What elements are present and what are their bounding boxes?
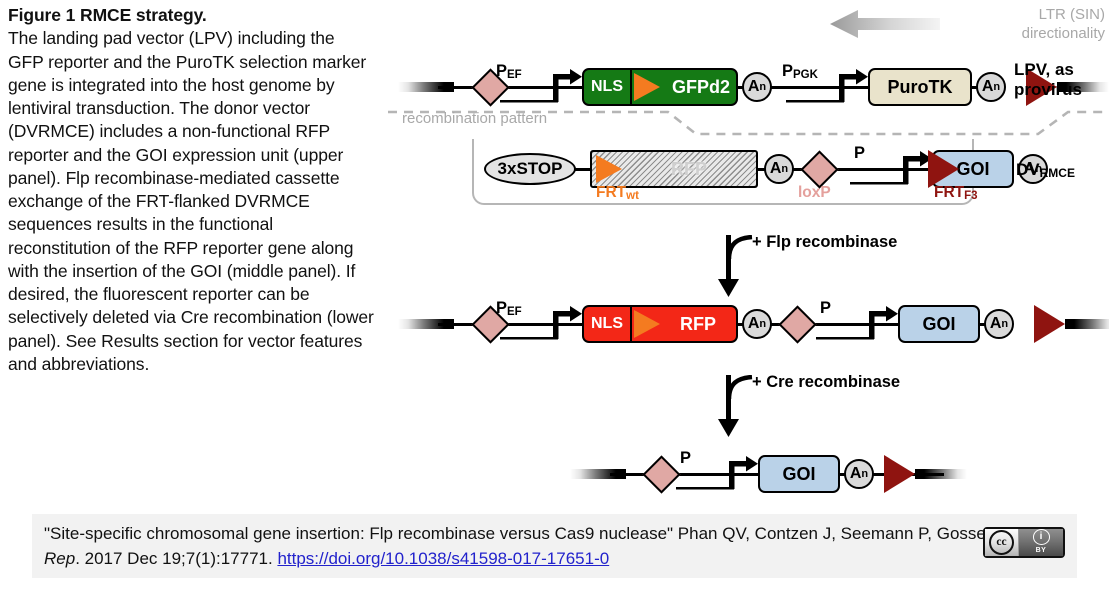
loxp-label: loxP (798, 184, 831, 202)
reaction-cre-label: + Cre recombinase (752, 373, 900, 392)
loxp-site-diamond-dvrmce (800, 150, 838, 188)
gfpd2-nls-segment: NLS (584, 70, 632, 104)
polya-signal-after-flp-1: An (742, 309, 772, 339)
recombination-pattern-label: recombination pattern (402, 110, 547, 127)
frt-f3-triangle-icon-after-cre (884, 455, 915, 493)
ltr-directionality-arrow-icon (830, 8, 940, 40)
cc-by-text: BY (1036, 546, 1047, 556)
rfp-nls-segment: NLS (584, 307, 632, 341)
stop-cassette-3xstop: 3xSTOP (484, 153, 576, 185)
ltr-directionality-note: LTR (SIN) directionality (965, 6, 1105, 44)
figure-page: Figure 1 RMCE strategy. The landing pad … (0, 0, 1109, 591)
genomic-dna-fade-left-3 (570, 469, 626, 479)
polya-signal-after-cre: An (844, 459, 874, 489)
citation-text-part2: . 2017 Dec 19;7(1):17771. (75, 549, 277, 568)
figure-caption-body: The landing pad vector (LPV) including t… (8, 27, 374, 376)
rfp-label-functional: RFP (660, 314, 736, 335)
genomic-dna-fade-left (398, 82, 454, 92)
promoter-pef-after-flp: PEF (496, 303, 582, 345)
reaction-flp: + Flp recombinase (718, 235, 968, 297)
frt-f3-triangle-icon-after-flp (1034, 305, 1065, 343)
construct-row-after-flp: PEF NLS RFP An P (392, 295, 1012, 353)
gene-box-rfp-nonfunctional: RFP (590, 150, 758, 188)
citation-footer: "Site-specific chromosomal gene insertio… (32, 514, 1077, 578)
genomic-dna-fade-right-2 (1065, 319, 1109, 329)
promoter-p-after-flp: P (812, 303, 898, 345)
construct-label-lpv: LPV, as provirus (1014, 60, 1082, 101)
loxp-site-diamond-after-flp-2 (778, 305, 816, 343)
gene-box-goi-after-cre: GOI (758, 455, 840, 493)
construct-label-dvrmce: DVRMCE (1016, 160, 1075, 180)
creative-commons-badge-icon: cc i BY (983, 527, 1065, 558)
cc-circle-icon: cc (989, 530, 1014, 555)
cc-by-person-icon: i (1033, 529, 1050, 545)
polya-signal-dvrmce-1: An (764, 154, 794, 184)
gene-box-rfp-functional: NLS RFP (582, 305, 738, 343)
promoter-p-after-cre: P (672, 453, 758, 495)
frt-wt-triangle-icon (634, 73, 660, 101)
cc-logo-section: cc (985, 529, 1019, 556)
reaction-cre: + Cre recombinase (718, 375, 968, 437)
frt-f3-triangle-icon-dvrmce (928, 150, 959, 188)
promoter-p-dvrmce: P (846, 148, 932, 190)
genomic-dna-fade-left-2 (398, 319, 454, 329)
polya-signal-2: An (976, 72, 1006, 102)
after-flp-right-end (1034, 295, 1109, 353)
goi-label-after-flp: GOI (900, 314, 978, 335)
figure-caption-title: Figure 1 RMCE strategy. (8, 4, 374, 27)
purotk-label: PuroTK (870, 77, 970, 98)
polya-signal-1: An (742, 72, 772, 102)
frt-wt-label: FRTwt (596, 184, 639, 202)
citation-text-part1: "Site-specific chromosomal gene insertio… (44, 524, 1024, 543)
ltr-note-line2: directionality (965, 25, 1105, 44)
cc-by-section: i BY (1019, 529, 1063, 556)
polya-signal-after-flp-2: An (984, 309, 1014, 339)
figure-diagram: LTR (SIN) directionality PEF NLS (378, 0, 1109, 512)
frt-wt-triangle-icon-after-flp (634, 310, 660, 338)
citation-doi-link[interactable]: https://doi.org/10.1038/s41598-017-17651… (277, 549, 609, 568)
frt-wt-triangle-icon-dvrmce (596, 155, 622, 183)
genomic-dna-fade-right-3 (915, 469, 967, 479)
gfpd2-label: GFPd2 (660, 77, 738, 98)
figure-caption: Figure 1 RMCE strategy. The landing pad … (8, 4, 374, 376)
reaction-flp-label: + Flp recombinase (752, 233, 897, 252)
ltr-note-line1: LTR (SIN) (965, 6, 1105, 25)
frt-f3-label: FRTF3 (934, 184, 978, 202)
goi-label-after-cre: GOI (760, 464, 838, 485)
rfp-label-nonfunctional: RFP (622, 159, 756, 180)
construct-row-after-cre: P GOI An (568, 445, 1008, 503)
gene-box-goi-after-flp: GOI (898, 305, 980, 343)
